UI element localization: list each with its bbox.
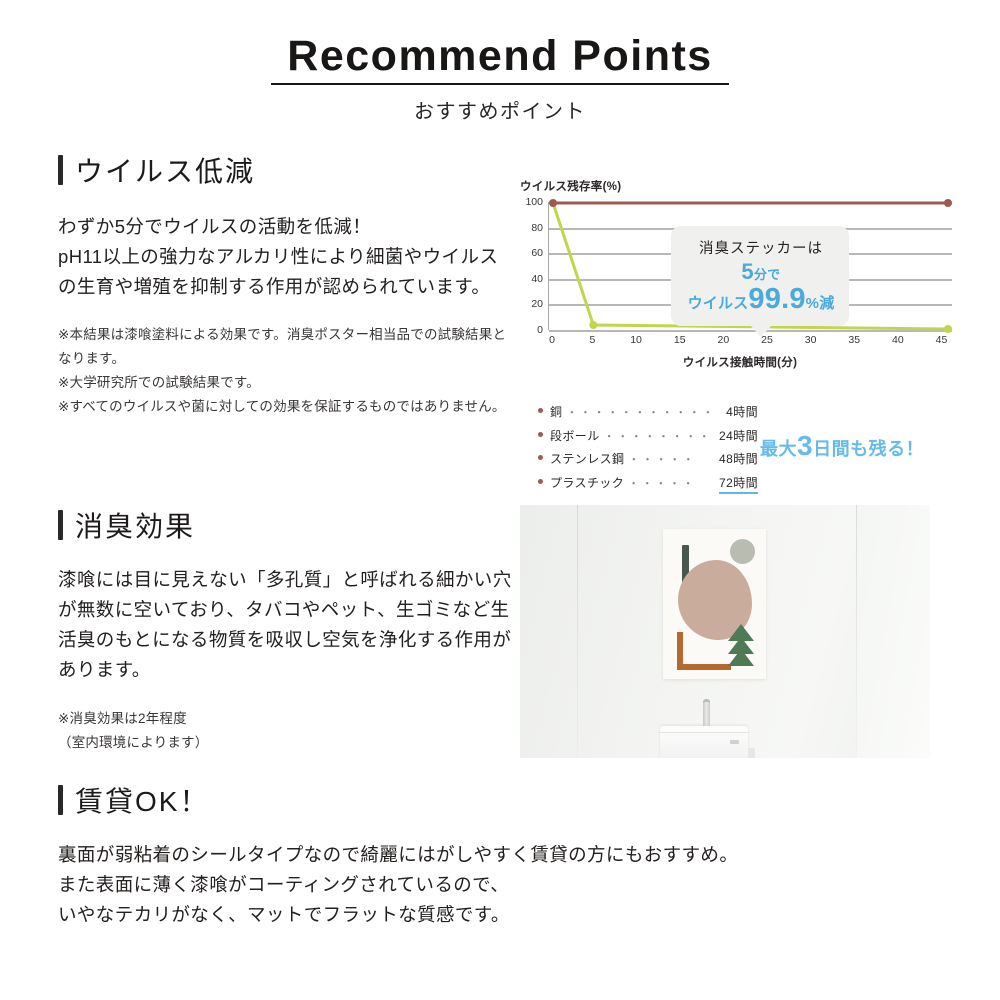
legend-material-name: ステンレス鋼 bbox=[550, 450, 624, 467]
chart-x-tick: 10 bbox=[630, 334, 642, 346]
photo-wall-seam-left bbox=[577, 505, 578, 758]
poster-circle-shape bbox=[730, 539, 755, 564]
section-virus-reduction: ウイルス低減 わずか5分でウイルスの活動を低減！ pH11以上の強力なアルカリ性… bbox=[58, 150, 513, 419]
legend-duration-highlighted: 72時間 bbox=[719, 474, 758, 494]
bubble-line-2: 5分で bbox=[683, 260, 839, 284]
heading-bar-icon bbox=[58, 785, 63, 815]
heading-bar-icon bbox=[58, 510, 63, 540]
section-odor-heading: 消臭効果 bbox=[58, 505, 513, 545]
max-days-number: 3 bbox=[797, 430, 813, 461]
chart-x-tick: 25 bbox=[761, 334, 773, 346]
chart-x-tick: 35 bbox=[848, 334, 860, 346]
heading-bar-icon bbox=[58, 155, 63, 185]
legend-material-name: 段ボール bbox=[550, 427, 600, 444]
section-virus-body: わずか5分でウイルスの活動を低減！ pH11以上の強力なアルカリ性により細菌やウ… bbox=[58, 212, 513, 302]
section-rental-body: 裏面が弱粘着のシールタイプなので綺麗にはがしやすく賃貸の方にもおすすめ。 また表… bbox=[58, 840, 888, 930]
interior-photo bbox=[520, 505, 930, 758]
toilet-tank bbox=[660, 726, 748, 758]
chart-y-tick: 20 bbox=[531, 298, 543, 310]
chart-x-axis-label: ウイルス接触時間(分) bbox=[520, 354, 960, 370]
chart-y-axis-label: ウイルス残存率(%) bbox=[520, 178, 960, 194]
chart-x-tick: 20 bbox=[717, 334, 729, 346]
bubble-minutes-number: 5 bbox=[741, 259, 754, 284]
leader-dots: ・・・・・ bbox=[624, 475, 719, 491]
chart-point bbox=[549, 199, 557, 207]
section-virus-note-1: ※本結果は漆喰塗料による効果です。消臭ポスター相当品での試験結果となります。 bbox=[58, 323, 513, 371]
photo-wall-right bbox=[856, 505, 930, 758]
legend-material-name: 銅 bbox=[550, 403, 562, 420]
section-virus-title: ウイルス低減 bbox=[75, 150, 255, 190]
bubble-minutes-unit: 分 bbox=[754, 267, 767, 282]
faucet-icon bbox=[703, 702, 710, 727]
chart-y-tick: 80 bbox=[531, 222, 543, 234]
tank-lid-line bbox=[660, 732, 748, 733]
poster-hook-curve bbox=[683, 642, 705, 664]
legend-material-name: プラスチック bbox=[550, 474, 624, 491]
chart-point bbox=[589, 321, 597, 329]
chart-point bbox=[944, 199, 952, 207]
bubble-line-1: 消臭ステッカーは bbox=[683, 237, 839, 258]
chart-x-tick: 0 bbox=[549, 334, 555, 346]
section-virus-note-3: ※すべてのウイルスや菌に対しての効果を保証するものではありません。 bbox=[58, 395, 513, 419]
max-days-callout: 最大3日間も残る！ bbox=[760, 430, 924, 462]
legend-duration: 24時間 bbox=[719, 427, 758, 444]
chart-annotation-bubble: 消臭ステッカーは 5分で ウイルス99.9%減 bbox=[671, 226, 849, 326]
chart-x-tick: 15 bbox=[674, 334, 686, 346]
chart-y-tick: 40 bbox=[531, 273, 543, 285]
page-subtitle: おすすめポイント bbox=[0, 95, 1000, 124]
section-odor-effect: 消臭効果 漆喰には目に見えない「多孔質」と呼ばれる細かい穴が無数に空いており、タ… bbox=[58, 505, 513, 755]
poster-tree-shape bbox=[727, 624, 755, 666]
chart-y-tick: 0 bbox=[537, 324, 543, 336]
legend-duration: 4時間 bbox=[726, 403, 758, 420]
section-odor-note-1: ※消臭効果は2年程度 bbox=[58, 707, 513, 731]
page-title: Recommend Points bbox=[271, 34, 728, 85]
section-rental-heading: 賃貸OK！ bbox=[58, 780, 888, 820]
leader-dots: ・・・・・ bbox=[624, 451, 719, 467]
section-rental-title: 賃貸OK！ bbox=[75, 780, 209, 820]
chart-x-tick: 5 bbox=[590, 334, 596, 346]
material-survival-legend: 銅 ・・・・・・・・・・・ 4時間 段ボール ・・・・・・・・ 24時間 ステン… bbox=[538, 403, 758, 500]
bubble-line-3: ウイルス99.9%減 bbox=[683, 284, 839, 314]
section-odor-note-2: （室内環境によります） bbox=[58, 731, 513, 755]
leader-dots: ・・・・・・・・ bbox=[600, 428, 719, 444]
recommend-points-page: Recommend Points おすすめポイント ウイルス低減 わずか5分でウ… bbox=[0, 0, 1000, 1000]
toilet-side-part bbox=[748, 748, 755, 758]
bubble-percent-sign: % bbox=[806, 295, 820, 312]
chart-plot-area: 100 80 60 40 20 0 消臭ステッカーは 5分で bbox=[548, 202, 952, 330]
page-header: Recommend Points おすすめポイント bbox=[0, 0, 1000, 124]
section-odor-title: 消臭効果 bbox=[75, 505, 195, 545]
leader-dots: ・・・・・・・・・・・ bbox=[562, 404, 726, 420]
section-virus-note-2: ※大学研究所での試験結果です。 bbox=[58, 371, 513, 395]
chart-x-axis: 0 5 10 15 20 25 30 35 40 45 bbox=[548, 330, 952, 352]
bullet-dot-icon bbox=[538, 479, 543, 484]
list-item: 銅 ・・・・・・・・・・・ 4時間 bbox=[538, 403, 758, 420]
list-item: 段ボール ・・・・・・・・ 24時間 bbox=[538, 427, 758, 444]
abstract-art-poster bbox=[663, 529, 766, 679]
legend-duration: 48時間 bbox=[719, 450, 758, 467]
photo-wall-seam-right bbox=[856, 505, 857, 758]
poster-hook-horizontal bbox=[677, 664, 731, 670]
chart-x-tick: 30 bbox=[805, 334, 817, 346]
chart-y-tick: 100 bbox=[525, 196, 543, 208]
list-item: ステンレス鋼 ・・・・・ 48時間 bbox=[538, 450, 758, 467]
max-days-prefix: 最大 bbox=[760, 439, 797, 459]
section-virus-heading: ウイルス低減 bbox=[58, 150, 513, 190]
bullet-dot-icon bbox=[538, 408, 543, 413]
max-days-suffix: 日間も残る！ bbox=[813, 439, 924, 459]
bubble-minutes-tail: で bbox=[767, 267, 780, 282]
chart-x-tick: 40 bbox=[892, 334, 904, 346]
chart-x-tick: 45 bbox=[936, 334, 948, 346]
chart-y-tick: 60 bbox=[531, 247, 543, 259]
virus-survival-chart: ウイルス残存率(%) 100 80 60 40 20 0 消臭ステッカーは bbox=[520, 178, 960, 370]
bullet-dot-icon bbox=[538, 455, 543, 460]
bubble-virus-word: ウイルス bbox=[688, 295, 749, 312]
bubble-reduction-tail: 減 bbox=[819, 295, 834, 312]
section-rental-ok: 賃貸OK！ 裏面が弱粘着のシールタイプなので綺麗にはがしやすく賃貸の方にもおすす… bbox=[58, 780, 888, 930]
tank-button-icon bbox=[730, 740, 739, 744]
bullet-dot-icon bbox=[538, 432, 543, 437]
list-item: プラスチック ・・・・・ 72時間 bbox=[538, 474, 758, 494]
section-odor-body: 漆喰には目に見えない「多孔質」と呼ばれる細かい穴が無数に空いており、タバコやペッ… bbox=[58, 565, 513, 685]
bubble-reduction-number: 99.9 bbox=[748, 283, 805, 315]
